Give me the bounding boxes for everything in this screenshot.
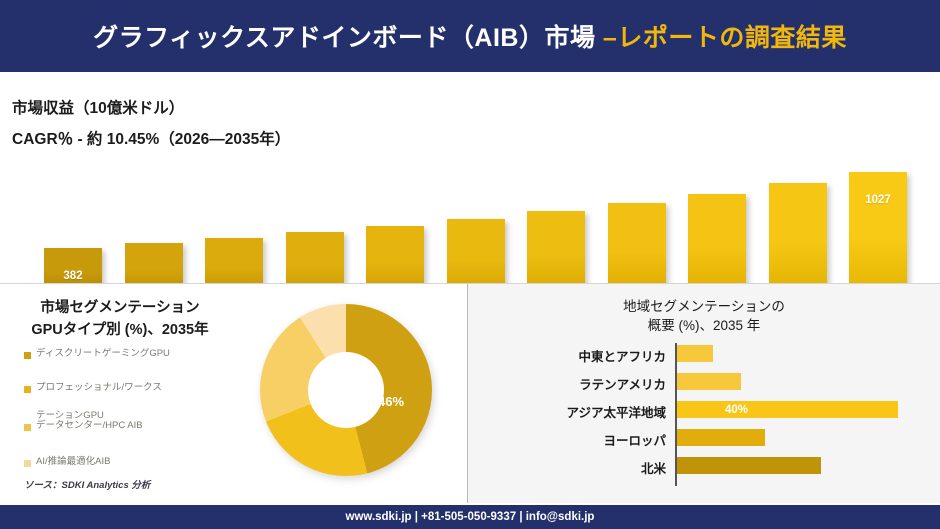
revenue-bar-column: 2030年: [447, 219, 505, 292]
regional-bar: [677, 457, 821, 474]
regional-bar-group: 中東とアフリカラテンアメリカアジア太平洋地域40%ヨーロッパ北米: [468, 339, 940, 489]
footer-bar: www.sdki.jp | +81-505-050-9337 | info@sd…: [0, 505, 940, 529]
legend-item: ディスクリートゲーミングGPU: [24, 348, 170, 360]
legend-item: プロフェッショナル/ワークス: [24, 382, 162, 394]
revenue-bar-column: 2032年: [608, 203, 666, 292]
revenue-bar: [447, 219, 505, 292]
regional-category-label: アジア太平洋地域: [566, 402, 666, 421]
page-title-main: グラフィックスアドインボード（AIB）市場: [93, 24, 603, 52]
regional-bar-value: 40%: [725, 404, 748, 416]
revenue-bar-column: 10272035年: [849, 172, 907, 292]
source-note: ソース：SDKI Analytics 分析: [24, 477, 150, 491]
revenue-bar-value: 382: [63, 270, 82, 282]
regional-bar: [677, 429, 765, 446]
revenue-bar: [769, 183, 827, 292]
legend-label: ディスクリートゲーミングGPU: [36, 348, 170, 360]
revenue-caption-units: 市場収益（10億米ドル）: [12, 96, 184, 118]
revenue-caption-cagr: CAGR％ - 約 10.45%（2026―2035年）: [12, 127, 290, 149]
regional-bar: [677, 373, 741, 390]
regional-bar: [677, 345, 713, 362]
revenue-bar-column: 2031年: [527, 211, 585, 292]
segmentation-title-line2: GPUタイプ別 (%)、2035年: [0, 318, 240, 339]
revenue-bar: [527, 211, 585, 292]
revenue-bar: [688, 194, 746, 292]
segmentation-title-line1: 市場セグメンテーション: [0, 296, 240, 317]
revenue-bar-column: 2033年: [688, 194, 746, 292]
legend-swatch-icon: [24, 424, 31, 431]
infographic-page: グラフィックスアドインボード（AIB）市場 –レポートの調査結果 市場収益（10…: [0, 0, 940, 529]
revenue-bar-value: 1027: [865, 194, 891, 206]
regional-panel: 地域セグメンテーションの 概要 (%)、2035 年 中東とアフリカラテンアメリ…: [468, 284, 940, 503]
donut-center-hole: [260, 304, 432, 476]
page-title-accent: –レポートの調査結果: [603, 24, 847, 52]
legend-item: データセンター/HPC AIB: [24, 420, 143, 432]
donut-chart: 46%: [250, 298, 450, 488]
revenue-chart-panel: 市場収益（10億米ドル） CAGR％ - 約 10.45%（2026―2035年…: [0, 72, 940, 284]
page-title: グラフィックスアドインボード（AIB）市場 –レポートの調査結果: [93, 18, 847, 54]
header-banner: グラフィックスアドインボード（AIB）市場 –レポートの調査結果: [0, 0, 940, 72]
regional-title-line1: 地域セグメンテーションの: [468, 295, 940, 315]
revenue-bar: 1027: [849, 172, 907, 292]
regional-category-label: ラテンアメリカ: [579, 374, 666, 393]
segmentation-panel: 市場セグメンテーション GPUタイプ別 (%)、2035年 ディスクリートゲーミ…: [0, 284, 467, 503]
revenue-bar-column: 2034年: [769, 183, 827, 292]
legend-swatch-icon: [24, 460, 31, 467]
legend-swatch-icon: [24, 386, 31, 393]
legend-swatch-icon: [24, 352, 31, 359]
footer-contact: www.sdki.jp | +81-505-050-9337 | info@sd…: [346, 511, 595, 523]
regional-category-label: 北米: [641, 458, 666, 477]
revenue-bar: [608, 203, 666, 292]
regional-bar: 40%: [677, 401, 898, 418]
legend-label: AI/推論最適化AIB: [36, 456, 110, 468]
regional-title-line2: 概要 (%)、2035 年: [468, 314, 940, 334]
regional-category-label: ヨーロッパ: [603, 430, 666, 449]
legend-item: AI/推論最適化AIB: [24, 456, 110, 468]
legend-label: プロフェッショナル/ワークス: [36, 382, 162, 394]
donut-slice-label: 46%: [378, 394, 404, 409]
legend-label: データセンター/HPC AIB: [36, 420, 143, 432]
regional-category-label: 中東とアフリカ: [578, 346, 666, 365]
